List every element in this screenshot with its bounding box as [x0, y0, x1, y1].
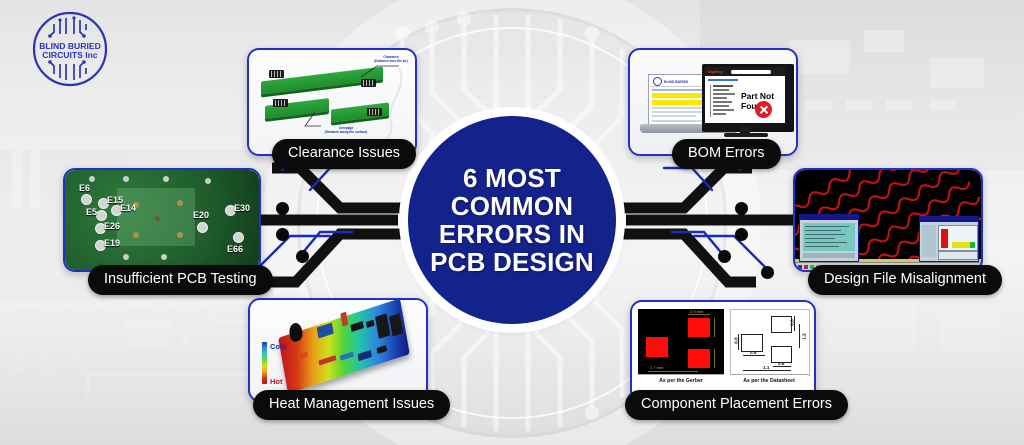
monitor-screen: DigiKey Part Not Found [705, 67, 785, 123]
ic-chip [366, 320, 375, 328]
label-bom-errors: BOM Errors [672, 139, 781, 169]
gerber-diagram: 2.9 mm 1.7 mm [638, 309, 724, 374]
dimension-line [714, 318, 715, 337]
gerber-pad [646, 337, 668, 357]
title-line-3: ERRORS IN [430, 220, 594, 248]
datasheet-diagram: 0.8 0.8 0.8 1.1 0.8 1.2 [730, 309, 810, 376]
datasheet-dim-text: 1.2 [802, 333, 807, 339]
caption-datasheet: As per the Datasheet [730, 374, 808, 386]
logo-line2: CIRCUITS Inc [42, 50, 98, 60]
smd-part [297, 352, 307, 360]
heatsink [375, 313, 390, 339]
test-point-pad [233, 232, 244, 243]
cad-artwork [795, 170, 981, 270]
thermal-scale-label-cold: Cold [270, 342, 287, 351]
dimension-line [714, 349, 715, 368]
chart-bar-red [941, 229, 948, 248]
test-point-pad [96, 210, 107, 221]
window-titlebar [920, 217, 978, 222]
title-line-2: COMMON [430, 192, 594, 220]
trace-node-dot [276, 202, 289, 215]
resistor-array [340, 351, 354, 360]
panel-heat-management-issues[interactable]: Cold Hot [248, 298, 428, 402]
dimension-line [743, 370, 791, 371]
pcb-via [205, 178, 211, 184]
dimension-line [648, 371, 698, 372]
pcb-via [163, 176, 169, 182]
chart-bar-yellow [952, 242, 970, 248]
monitor-stand [740, 126, 750, 133]
sheet-logo-text: BLIND BURIED [664, 80, 688, 84]
test-point-label: E6 [79, 183, 90, 193]
annotation-clearance-sub: (Distance over the air) [367, 59, 415, 63]
window-titlebar [800, 215, 858, 220]
smd-part [377, 345, 388, 354]
thermal-scale-bar [262, 342, 267, 384]
caption-gerber: As per the Gerber [638, 374, 724, 386]
pcb-via [133, 232, 139, 238]
test-point-label: E14 [120, 203, 136, 213]
window-body [803, 223, 855, 251]
gerber-dim-text: 1.7 mm [650, 365, 663, 370]
pcb-via [161, 254, 167, 260]
test-point-pad [81, 194, 92, 205]
datasheet-dim-text: 0.8 [790, 319, 795, 325]
title-line-4: PCB DESIGN [430, 248, 594, 276]
ic-chip [317, 323, 334, 339]
label-heat-management-issues: Heat Management Issues [253, 390, 450, 420]
datasheet-dim-text: 0.8 [750, 350, 756, 355]
ic-chip [350, 321, 364, 332]
annotation-clearance: Clearance (Distance over the air) [367, 55, 415, 63]
pcb-via [123, 254, 129, 260]
annotation-creepage: Creepage (Distance along the surface) [303, 126, 389, 134]
brand-logo: BLIND BURIED CIRCUITS Inc [16, 8, 124, 90]
label-clearance-issues: Clearance Issues [272, 139, 416, 169]
title-line-1: 6 MOST [430, 164, 594, 192]
label-design-file-misalignment: Design File Misalignment [808, 265, 1002, 295]
label-component-placement-errors: Component Placement Errors [625, 390, 848, 420]
test-point-label: E30 [234, 203, 250, 213]
test-point-label: E20 [193, 210, 209, 220]
page-title: 6 MOST COMMON ERRORS IN PCB DESIGN [424, 164, 600, 276]
datasheet-dim-text: 0.8 [734, 337, 739, 343]
sheet-row [652, 115, 696, 117]
dimension-line [743, 355, 765, 356]
capacitor [288, 321, 304, 343]
cad-dialog-left [799, 214, 859, 262]
label-insufficient-pcb-testing: Insufficient PCB Testing [88, 265, 273, 295]
monitor: DigiKey Part Not Found [702, 64, 794, 132]
thermal-artwork: Cold Hot [250, 300, 426, 400]
panel-component-placement-errors[interactable]: 2.9 mm 1.7 mm As per the Gerber 0.8 0.8 … [630, 300, 816, 402]
thermal-scale-label-hot: Hot [270, 377, 283, 386]
heatsink [389, 313, 403, 336]
test-point-pad [197, 222, 208, 233]
datasheet-dim-text: 0.8 [778, 361, 784, 366]
connector [340, 312, 348, 327]
cad-dialog-right [919, 216, 979, 262]
datasheet-dim-text: 1.1 [763, 365, 769, 370]
pcb-via [155, 216, 160, 221]
dimension-line [773, 366, 791, 367]
pcb-via [177, 200, 183, 206]
trace-node-dot [735, 228, 748, 241]
dimension-line [799, 324, 800, 348]
trace-node-dot [718, 250, 731, 263]
smd-part [358, 350, 373, 361]
center-title-disc: 6 MOST COMMON ERRORS IN PCB DESIGN [408, 116, 616, 324]
placement-artwork: 2.9 mm 1.7 mm As per the Gerber 0.8 0.8 … [632, 302, 814, 400]
monitor-base [724, 133, 768, 137]
annotation-creepage-sub: (Distance along the surface) [303, 130, 389, 134]
panel-insufficient-pcb-testing[interactable]: E6 E15 E5 E14 E26 E19 E20 E30 E66 [63, 168, 261, 272]
panel-design-file-misalignment[interactable] [793, 168, 983, 272]
trace-node-dot [296, 250, 309, 263]
test-point-label: E5 [86, 207, 97, 217]
test-point-label: E19 [104, 238, 120, 248]
pcb-testing-artwork: E6 E15 E5 E14 E26 E19 E20 E30 E66 [65, 170, 259, 270]
resistor-array [318, 355, 336, 366]
infographic-canvas: BLIND BURIED CIRCUITS Inc 6 MOST COMMON … [0, 0, 1024, 445]
trace-node-dot [761, 266, 774, 279]
chart-bar-green [970, 242, 975, 248]
test-point-label: E26 [104, 221, 120, 231]
pcb-via [123, 176, 129, 182]
trace-node-dot [735, 202, 748, 215]
thermal-pcb [278, 300, 410, 394]
red-x-icon [755, 101, 772, 118]
gerber-pad [688, 318, 710, 337]
dimension-line [688, 314, 710, 315]
gerber-pad [688, 349, 710, 368]
gerber-dim-text: 2.9 mm [690, 309, 703, 314]
trace-node-dot [276, 228, 289, 241]
pcb-via [177, 232, 183, 238]
pcb-via [89, 176, 95, 182]
test-point-label: E66 [227, 244, 243, 254]
sheet-row [652, 107, 702, 109]
